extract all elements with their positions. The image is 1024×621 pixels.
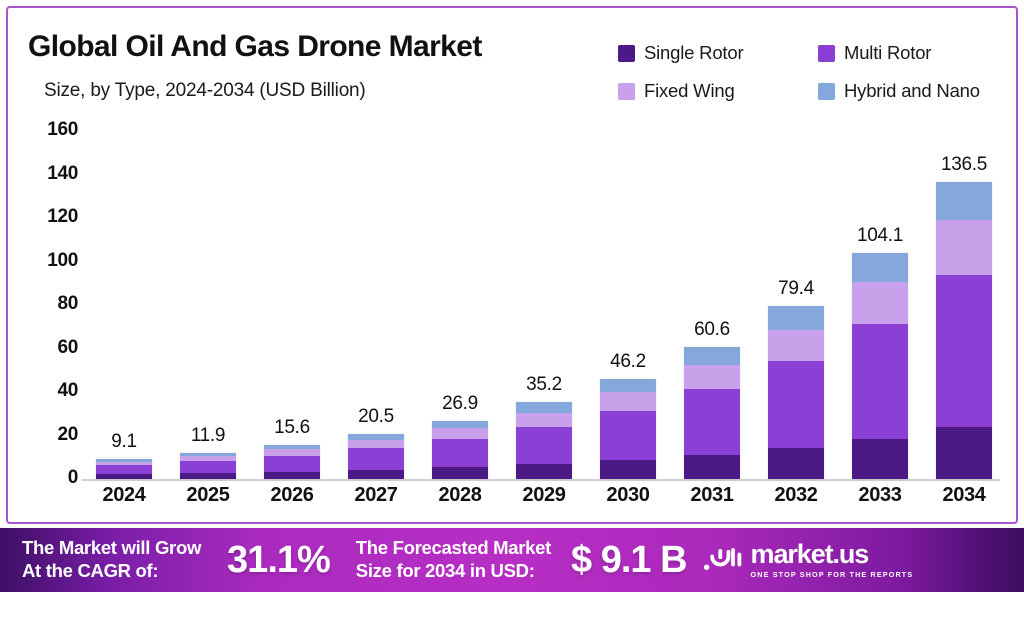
- infographic-root: Global Oil And Gas Drone Market Size, by…: [0, 0, 1024, 621]
- chart-header: Global Oil And Gas Drone Market Size, by…: [8, 8, 1016, 112]
- legend-swatch-icon: [818, 83, 835, 100]
- legend-item[interactable]: Single Rotor: [618, 42, 818, 64]
- bar-segment: [432, 428, 488, 439]
- x-axis-tick: 2033: [842, 484, 918, 520]
- legend-label: Hybrid and Nano: [844, 80, 980, 102]
- y-axis-tick: 20: [57, 424, 78, 446]
- bar-segment: [516, 402, 572, 412]
- bar-column[interactable]: 60.6: [674, 112, 750, 479]
- bar-column[interactable]: 15.6: [254, 112, 330, 479]
- bar-segment: [264, 456, 320, 472]
- bar-segment: [516, 427, 572, 465]
- bar-segment: [516, 413, 572, 427]
- bar-stack[interactable]: [96, 459, 152, 479]
- bar-stack[interactable]: [684, 347, 740, 479]
- bar-column[interactable]: 35.2: [506, 112, 582, 479]
- x-axis-tick: 2027: [338, 484, 414, 520]
- y-axis-tick: 120: [47, 206, 78, 228]
- bar-segment: [768, 361, 824, 448]
- bar-column[interactable]: 104.1: [842, 112, 918, 479]
- x-axis-tick: 2032: [758, 484, 834, 520]
- bar-stack[interactable]: [432, 421, 488, 480]
- market-us-logo-icon: [703, 545, 743, 575]
- legend-label: Multi Rotor: [844, 42, 931, 64]
- cagr-value: 31.1%: [227, 539, 330, 582]
- bar-segment: [432, 421, 488, 429]
- cagr-label-line2: At the CAGR of:: [22, 560, 158, 581]
- bar-total-label: 136.5: [926, 154, 1002, 176]
- x-axis-tick: 2026: [254, 484, 330, 520]
- bar-column[interactable]: 26.9: [422, 112, 498, 479]
- bar-segment: [936, 220, 992, 275]
- x-axis-tick: 2030: [590, 484, 666, 520]
- y-axis-tick: 160: [47, 119, 78, 141]
- bar-segment: [852, 324, 908, 440]
- chart-card: Global Oil And Gas Drone Market Size, by…: [6, 6, 1018, 524]
- bar-segment: [852, 439, 908, 479]
- bar-column[interactable]: 46.2: [590, 112, 666, 479]
- bar-segment: [348, 470, 404, 479]
- x-axis-tick: 2031: [674, 484, 750, 520]
- x-axis-tick: 2025: [170, 484, 246, 520]
- bar-segment: [600, 379, 656, 393]
- bar-segment: [96, 474, 152, 479]
- x-axis-tick: 2029: [506, 484, 582, 520]
- bar-stack[interactable]: [180, 453, 236, 479]
- bar-stack[interactable]: [264, 445, 320, 479]
- bar-total-label: 9.1: [86, 431, 162, 453]
- cagr-label: The Market will Grow At the CAGR of:: [22, 537, 201, 582]
- x-axis-tick: 2028: [422, 484, 498, 520]
- bar-segment: [600, 460, 656, 479]
- chart-legend: Single RotorMulti RotorFixed WingHybrid …: [618, 34, 1018, 110]
- plot-area: 020406080100120140160 9.111.915.620.526.…: [8, 112, 1020, 526]
- bar-segment: [852, 282, 908, 324]
- x-axis-line: [82, 479, 1000, 481]
- bar-stack[interactable]: [936, 182, 992, 479]
- bar-stack[interactable]: [768, 306, 824, 479]
- cagr-label-line1: The Market will Grow: [22, 537, 201, 558]
- y-axis: 020406080100120140160: [8, 112, 86, 480]
- bar-segment: [768, 448, 824, 479]
- bar-segment: [936, 275, 992, 427]
- bar-total-label: 104.1: [842, 225, 918, 247]
- bar-segment: [516, 464, 572, 479]
- x-axis-tick: 2034: [926, 484, 1002, 520]
- y-axis-tick: 40: [57, 380, 78, 402]
- bar-segment: [348, 448, 404, 470]
- bar-total-label: 35.2: [506, 374, 582, 396]
- bar-segment: [264, 472, 320, 479]
- bar-column[interactable]: 9.1: [86, 112, 162, 479]
- y-axis-tick: 0: [68, 467, 78, 489]
- bar-total-label: 79.4: [758, 278, 834, 300]
- legend-swatch-icon: [818, 45, 835, 62]
- y-axis-tick: 80: [57, 293, 78, 315]
- legend-item[interactable]: Hybrid and Nano: [818, 80, 1018, 102]
- bar-total-label: 11.9: [170, 425, 246, 447]
- brand-logo-text: market.us ONE STOP SHOP FOR THE REPORTS: [751, 541, 914, 578]
- forecast-label-line1: The Forecasted Market: [356, 537, 551, 558]
- y-axis-tick: 60: [57, 337, 78, 359]
- bar-segment: [684, 389, 740, 455]
- bar-segment: [684, 347, 740, 365]
- bar-total-label: 15.6: [254, 417, 330, 439]
- bar-segment: [684, 455, 740, 479]
- bar-total-label: 60.6: [674, 319, 750, 341]
- bar-total-label: 46.2: [590, 351, 666, 373]
- forecast-value: $ 9.1 B: [571, 539, 687, 582]
- bar-segment: [936, 182, 992, 220]
- bar-segment: [936, 427, 992, 479]
- bar-column[interactable]: 20.5: [338, 112, 414, 479]
- legend-label: Single Rotor: [644, 42, 743, 64]
- bar-stack[interactable]: [516, 402, 572, 479]
- bar-column[interactable]: 11.9: [170, 112, 246, 479]
- legend-swatch-icon: [618, 83, 635, 100]
- bar-segment: [768, 306, 824, 329]
- bar-segment: [96, 465, 152, 474]
- forecast-label: The Forecasted Market Size for 2034 in U…: [356, 537, 551, 582]
- bar-total-label: 20.5: [338, 406, 414, 428]
- x-axis-tick: 2024: [86, 484, 162, 520]
- x-axis: 2024202520262027202820292030203120322033…: [86, 484, 1002, 520]
- y-axis-tick: 140: [47, 163, 78, 185]
- bar-stack[interactable]: [852, 253, 908, 479]
- bar-segment: [684, 365, 740, 389]
- footer-band: The Market will Grow At the CAGR of: 31.…: [0, 528, 1024, 592]
- legend-item[interactable]: Fixed Wing: [618, 80, 818, 102]
- brand-tagline: ONE STOP SHOP FOR THE REPORTS: [751, 571, 914, 578]
- bar-total-label: 26.9: [422, 393, 498, 415]
- legend-label: Fixed Wing: [644, 80, 735, 102]
- legend-swatch-icon: [618, 45, 635, 62]
- legend-item[interactable]: Multi Rotor: [818, 42, 1018, 64]
- chart-subtitle: Size, by Type, 2024-2034 (USD Billion): [44, 80, 366, 102]
- bar-segment: [180, 461, 236, 473]
- y-axis-tick: 100: [47, 250, 78, 272]
- bar-segment: [852, 253, 908, 282]
- bar-segment: [600, 392, 656, 410]
- bar-segment: [348, 440, 404, 448]
- bar-group: 9.111.915.620.526.935.246.260.679.4104.1…: [86, 112, 1002, 479]
- bar-segment: [180, 473, 236, 479]
- brand-logo[interactable]: market.us ONE STOP SHOP FOR THE REPORTS: [703, 541, 914, 578]
- bar-segment: [768, 330, 824, 362]
- bar-stack[interactable]: [348, 434, 404, 479]
- bar-column[interactable]: 79.4: [758, 112, 834, 479]
- bar-column[interactable]: 136.5: [926, 112, 1002, 479]
- bar-segment: [600, 411, 656, 461]
- bar-segment: [432, 467, 488, 479]
- page-title: Global Oil And Gas Drone Market: [28, 30, 482, 64]
- bar-stack[interactable]: [600, 379, 656, 479]
- brand-name: market.us: [751, 541, 914, 568]
- forecast-label-line2: Size for 2034 in USD:: [356, 560, 535, 581]
- bar-segment: [432, 439, 488, 467]
